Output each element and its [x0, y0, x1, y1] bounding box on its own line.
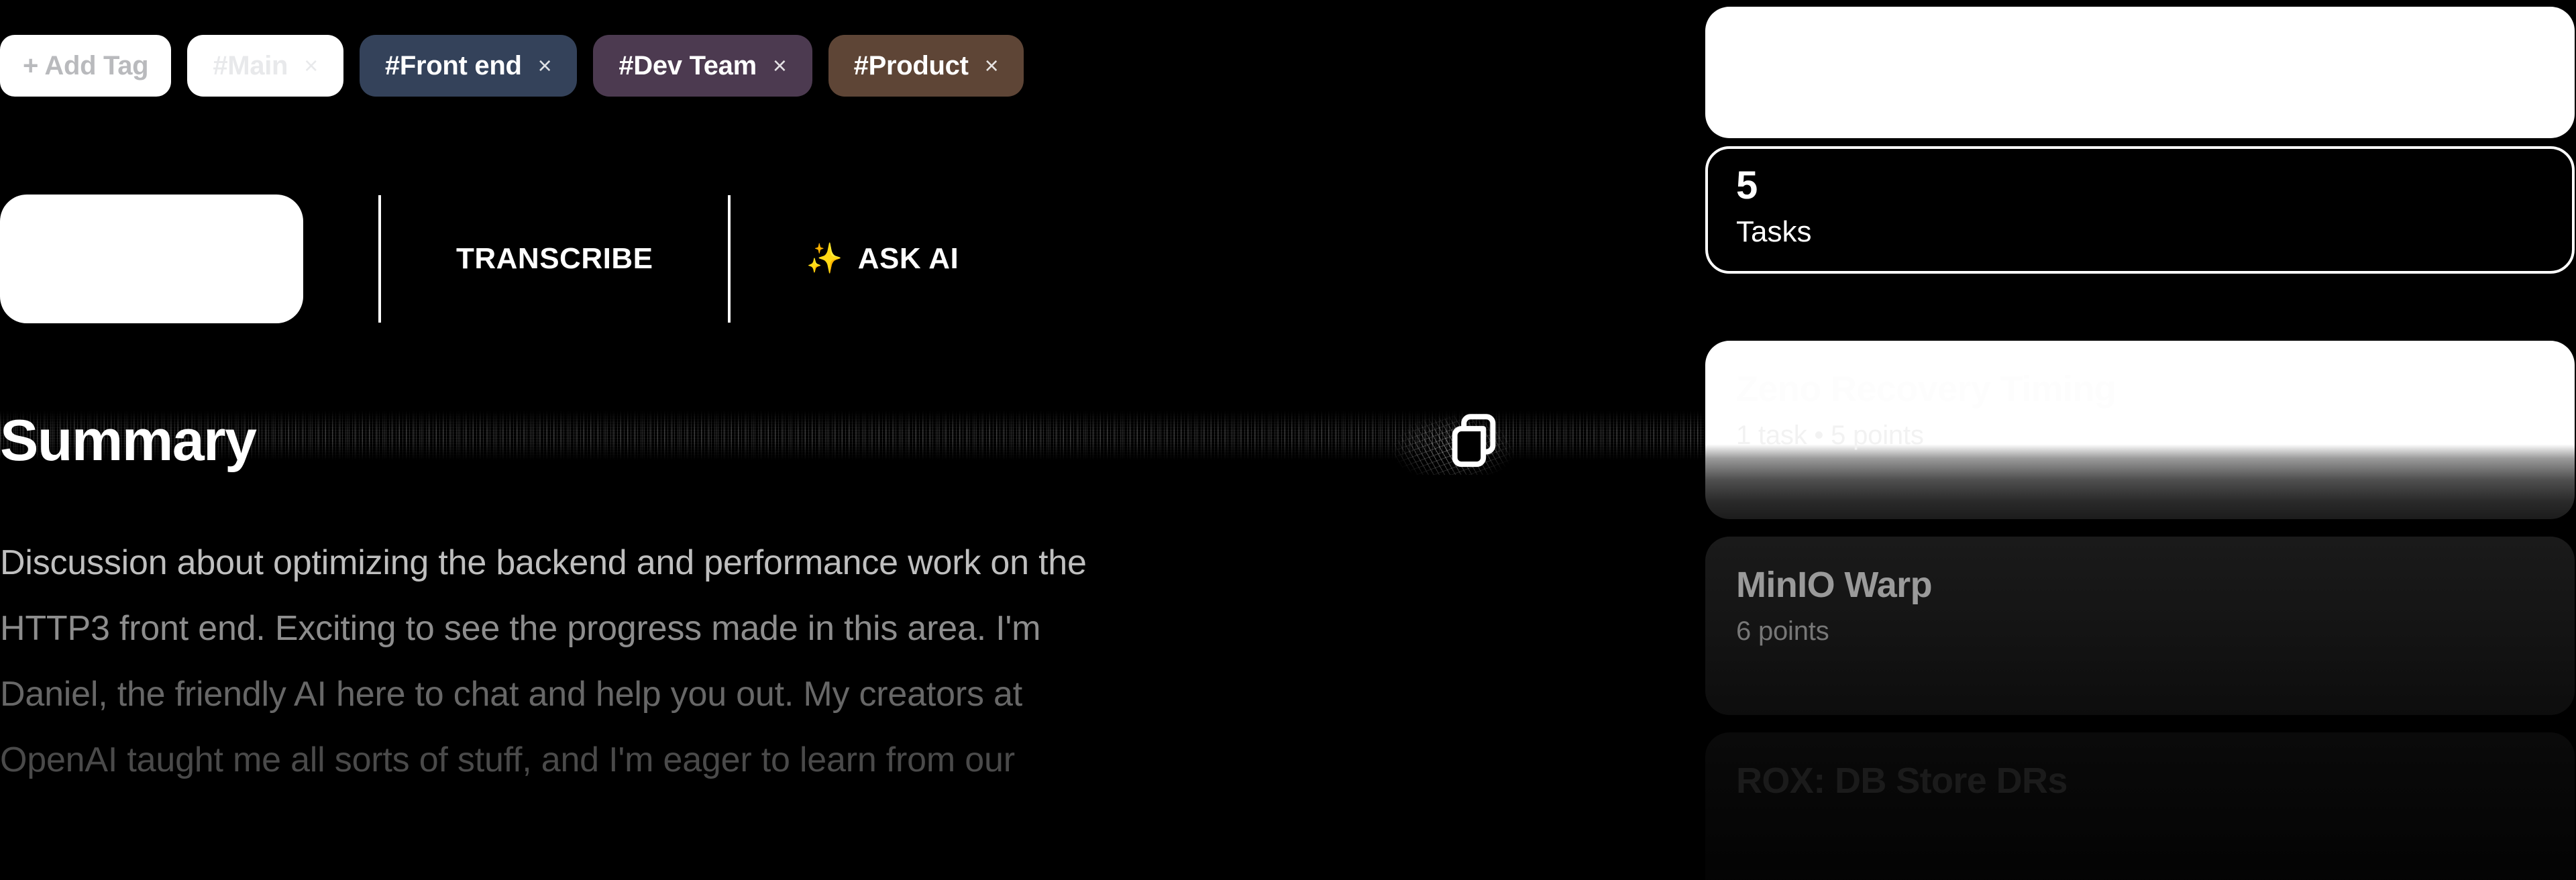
add-tag-button[interactable]: + Add Tag [0, 35, 171, 97]
summary-line: Daniel, the friendly AI here to chat and… [0, 661, 1516, 727]
tag-remove-icon[interactable]: × [773, 54, 787, 78]
primary-action-button[interactable] [0, 195, 303, 323]
task-title: MinIO Warp [1736, 566, 2544, 604]
task-title: Zeno Recovery Timing [1736, 370, 2544, 408]
task-title: ROX: DB Store DRs [1736, 762, 2544, 800]
main-content-column: + Add Tag #Main × #Front end × #Dev Team… [0, 0, 1704, 880]
summary-line: HTTP3 front end. Exciting to see the pro… [0, 596, 1516, 661]
tag-remove-icon[interactable]: × [304, 54, 318, 78]
summary-line: Discussion about optimizing the backend … [0, 530, 1516, 596]
transcribe-button[interactable]: TRANSCRIBE [456, 242, 653, 276]
page-title: Summary [0, 412, 256, 470]
app-screen: + Add Tag #Main × #Front end × #Dev Team… [0, 0, 2576, 880]
tag-chip-product[interactable]: #Product × [828, 35, 1024, 97]
tag-chip-dev-team[interactable]: #Dev Team × [593, 35, 812, 97]
toolbar-divider [728, 195, 731, 323]
copy-summary-button[interactable] [1442, 401, 1523, 482]
transcribe-label: TRANSCRIBE [456, 242, 653, 276]
ask-ai-label: ASK AI [858, 242, 959, 276]
tag-remove-icon[interactable]: × [538, 54, 552, 78]
sidebar-card-blank[interactable] [1705, 7, 2575, 138]
summary-header: Summary [0, 404, 1610, 478]
tag-chip-front-end[interactable]: #Front end × [360, 35, 577, 97]
ask-ai-button[interactable]: ✨ ASK AI [806, 242, 959, 276]
tag-label: #Front end [385, 51, 522, 81]
sidebar-task-card-zeno[interactable]: Zeno Recovery Timing 1 task • 5 points [1705, 341, 2575, 519]
tag-label: #Dev Team [619, 51, 757, 81]
tag-label: #Product [854, 51, 969, 81]
sidebar-task-card-minio-warp[interactable]: MinIO Warp 6 points [1705, 537, 2575, 715]
tag-chip-main[interactable]: #Main × [187, 35, 343, 97]
action-toolbar: TRANSCRIBE ✨ ASK AI [0, 195, 959, 323]
copy-document-icon[interactable] [1449, 413, 1499, 468]
add-tag-label: + Add Tag [23, 51, 148, 81]
tasks-count: 5 [1736, 166, 2544, 205]
tag-remove-icon[interactable]: × [985, 54, 999, 78]
summary-line: OpenAI taught me all sorts of stuff, and… [0, 727, 1516, 793]
summary-text: Discussion about optimizing the backend … [0, 530, 1516, 793]
tag-row: + Add Tag #Main × #Front end × #Dev Team… [0, 35, 1024, 97]
tasks-label: Tasks [1736, 217, 2544, 247]
tasks-summary-card[interactable]: 5 Tasks [1705, 146, 2575, 274]
toolbar-divider [378, 195, 381, 323]
tag-label: #Main [213, 51, 288, 81]
sidebar-task-card-rox-db-store[interactable]: ROX: DB Store DRs [1705, 732, 2575, 880]
task-meta: 6 points [1736, 616, 2544, 647]
right-sidebar: 5 Tasks Zeno Recovery Timing 1 task • 5 … [1704, 0, 2576, 880]
sparkles-icon: ✨ [806, 244, 843, 274]
task-meta: 1 task • 5 points [1736, 421, 2544, 451]
